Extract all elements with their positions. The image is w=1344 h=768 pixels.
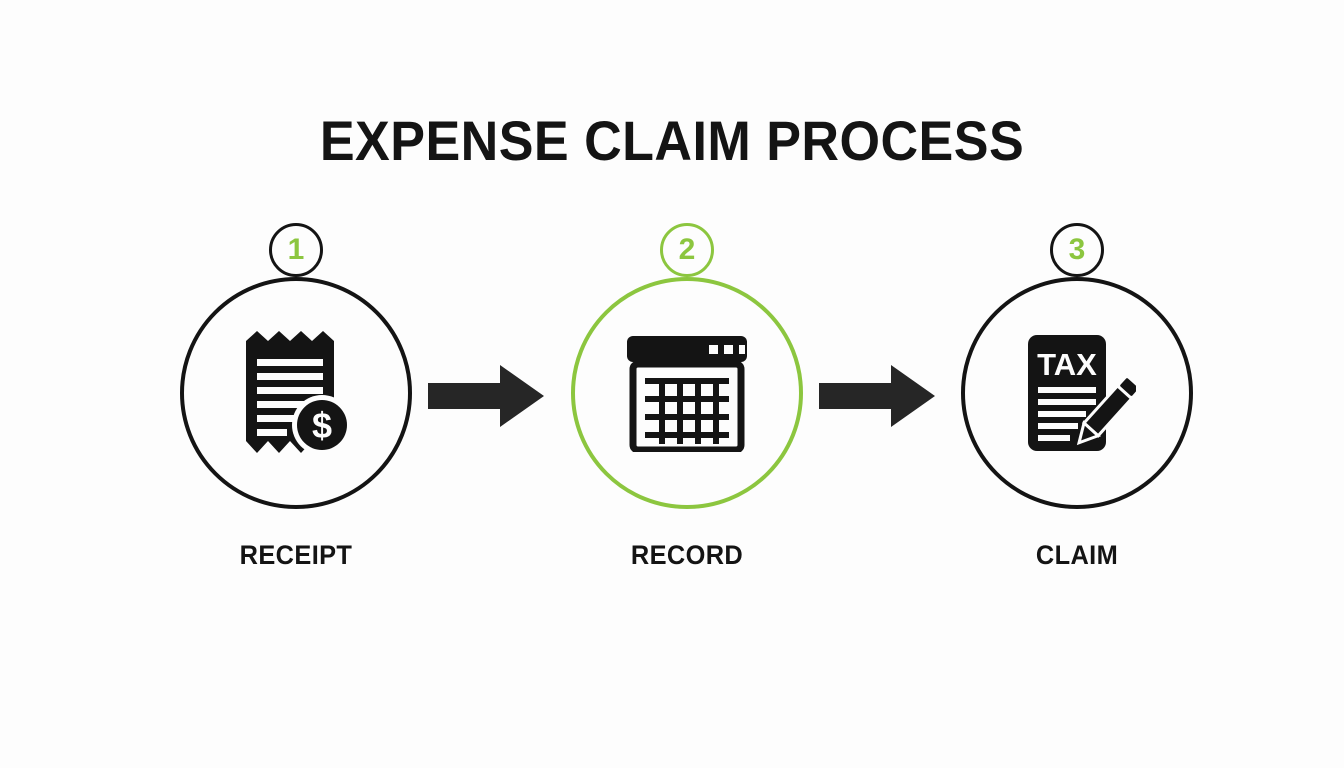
page-title: EXPENSE CLAIM PROCESS (47, 108, 1297, 173)
arrow-right-icon-2 (819, 365, 935, 427)
spreadsheet-window-icon (575, 281, 799, 505)
process-step-claim[interactable]: 3 TAX (947, 215, 1207, 595)
receipt-dollar-icon: $ (184, 281, 408, 505)
step-label-3: CLAIM (955, 540, 1199, 571)
step-number-2: 2 (663, 226, 711, 274)
svg-text:$: $ (312, 405, 332, 446)
process-steps: 1 (0, 215, 1344, 595)
step-number-3: 3 (1053, 226, 1101, 274)
step-label-1: RECEIPT (174, 540, 418, 571)
tax-doc-text: TAX (1037, 347, 1097, 382)
process-step-record[interactable]: 2 (557, 215, 817, 595)
step-circle-3[interactable]: TAX (961, 277, 1193, 509)
arrow-right-icon-1 (428, 365, 544, 427)
step-number-badge-3: 3 (1050, 223, 1104, 277)
step-label-2: RECORD (565, 540, 809, 571)
step-circle-2[interactable] (571, 277, 803, 509)
step-number-badge-2: 2 (660, 223, 714, 277)
step-circle-1[interactable]: $ (180, 277, 412, 509)
tax-document-pencil-icon: TAX (965, 281, 1189, 505)
infographic-canvas: EXPENSE CLAIM PROCESS 1 (0, 0, 1344, 768)
step-number-badge-1: 1 (269, 223, 323, 277)
process-step-receipt[interactable]: 1 (166, 215, 426, 595)
step-number-1: 1 (272, 226, 320, 274)
